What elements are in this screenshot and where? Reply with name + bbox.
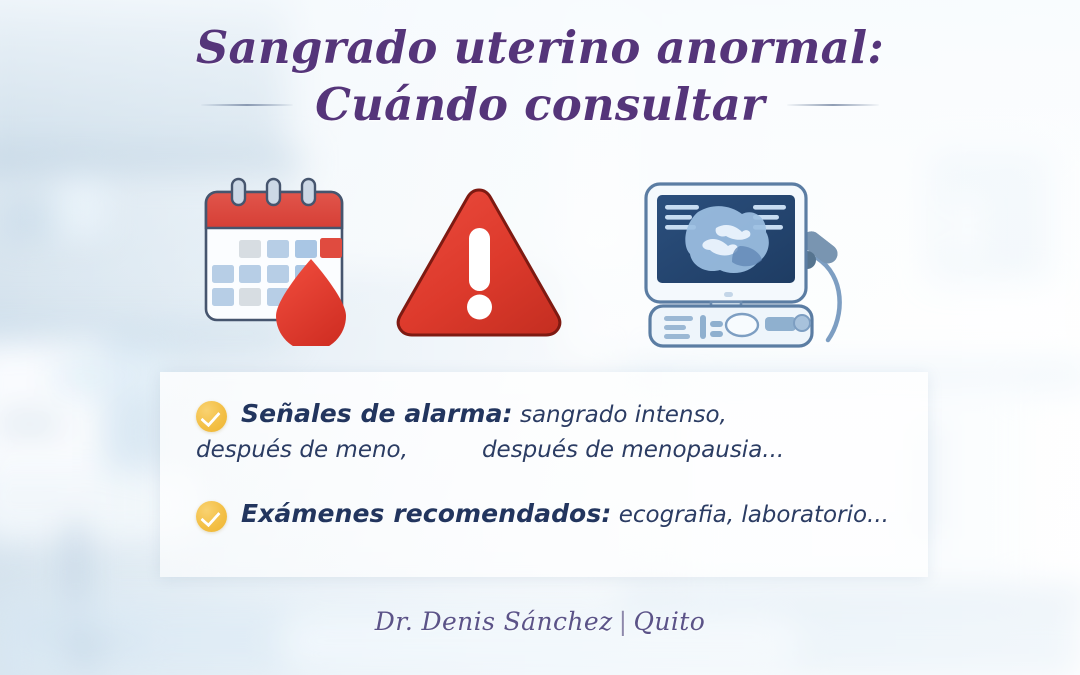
- footer-credit: Dr. Denis Sánchez|Quito: [0, 607, 1080, 636]
- title-subline-row: Cuándo consultar: [0, 79, 1080, 130]
- warning-svg: [392, 176, 567, 346]
- doctor-name: Dr. Denis Sánchez: [375, 607, 613, 636]
- bullet-label: Señales de alarma:: [241, 399, 513, 428]
- divider-left: [201, 104, 293, 106]
- list-item: Señales de alarma: sangrado intenso, des…: [196, 396, 956, 466]
- list-item: Exámenes recomendados: ecografia, labora…: [196, 496, 956, 532]
- title-line-two: Cuándo consultar: [315, 79, 765, 130]
- exclamation-dot: [467, 295, 492, 320]
- icon-row: [0, 176, 1080, 356]
- ultrasound-machine-icon: [632, 176, 857, 358]
- footer-city: Quito: [633, 607, 705, 636]
- bullet-label: Exámenes recomendados:: [241, 499, 611, 528]
- check-circle-icon: [196, 401, 227, 432]
- bullet-detail: ecografia, laboratorio...: [611, 502, 889, 528]
- page-title: Sangrado uterino anormal: Cuándo consult…: [0, 22, 1080, 131]
- exclamation-bar: [469, 228, 490, 291]
- probe-cable: [817, 258, 840, 340]
- bullet-second-line-a: después de meno,: [196, 437, 408, 463]
- title-line-one: Sangrado uterino anormal:: [0, 22, 1080, 73]
- footer-separator: |: [613, 607, 634, 636]
- bullet-text: Exámenes recomendados: ecografia, labora…: [241, 496, 889, 532]
- bullet-list: Señales de alarma: sangrado intenso, des…: [196, 396, 956, 532]
- bullet-second-line: después de meno,después de menopausia...: [196, 434, 784, 467]
- calendar-svg: [196, 176, 356, 346]
- bullet-second-line-b: después de menopausia...: [482, 437, 784, 463]
- poster-canvas: Sangrado uterino anormal: Cuándo consult…: [0, 0, 1080, 675]
- bullet-detail: sangrado intenso,: [513, 402, 727, 428]
- bullet-text: Señales de alarma: sangrado intenso, des…: [241, 396, 784, 466]
- check-circle-icon: [196, 501, 227, 532]
- monitor-indicator: [724, 292, 733, 297]
- warning-triangle-icon: [392, 176, 567, 350]
- calendar-blood-drop-icon: [196, 176, 356, 350]
- ultrasound-svg: [632, 176, 857, 354]
- divider-right: [787, 104, 879, 106]
